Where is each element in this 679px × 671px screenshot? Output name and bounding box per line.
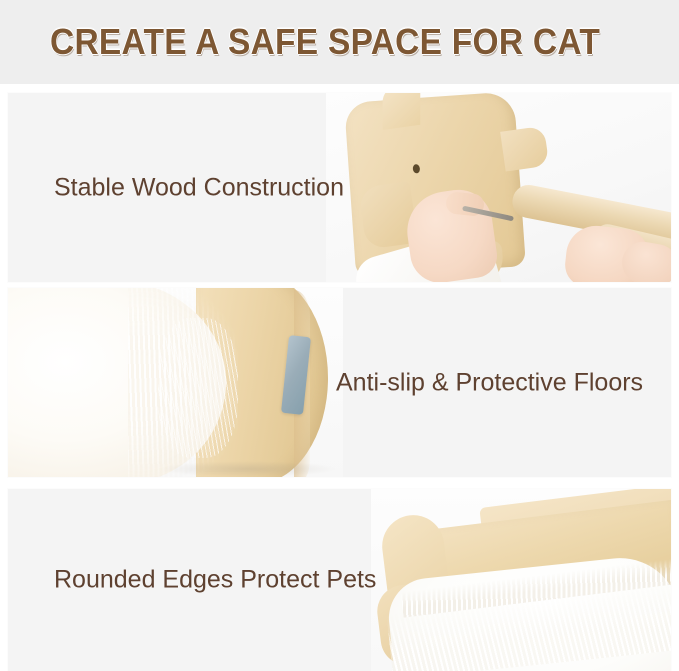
faux-fur-wisps <box>158 318 238 458</box>
feature-photo-rounded-edge <box>371 489 671 671</box>
contact-shadow <box>158 461 338 477</box>
page-title: CREATE A SAFE SPACE FOR CAT <box>50 21 600 63</box>
feature-label-rounded-edges-protect-pets: Rounded Edges Protect Pets <box>54 566 376 595</box>
feature-panel-rounded-edges-protect-pets: Rounded Edges Protect Pets <box>8 489 671 671</box>
feature-photo-assembly <box>326 93 671 282</box>
feature-photo-felt-pad <box>8 288 343 477</box>
infographic-page: CREATE A SAFE SPACE FOR CAT Stable Wood … <box>0 0 679 671</box>
feature-panel-anti-slip-protective-floors: Anti-slip & Protective Floors <box>8 288 671 477</box>
feature-label-anti-slip-protective-floors: Anti-slip & Protective Floors <box>336 368 643 397</box>
header-banner: CREATE A SAFE SPACE FOR CAT <box>0 0 679 84</box>
feature-panel-stable-wood-construction: Stable Wood Construction <box>8 93 671 282</box>
cat-ear-left <box>383 93 421 130</box>
cat-eye-hole <box>412 164 420 174</box>
feature-label-stable-wood-construction: Stable Wood Construction <box>54 173 344 202</box>
